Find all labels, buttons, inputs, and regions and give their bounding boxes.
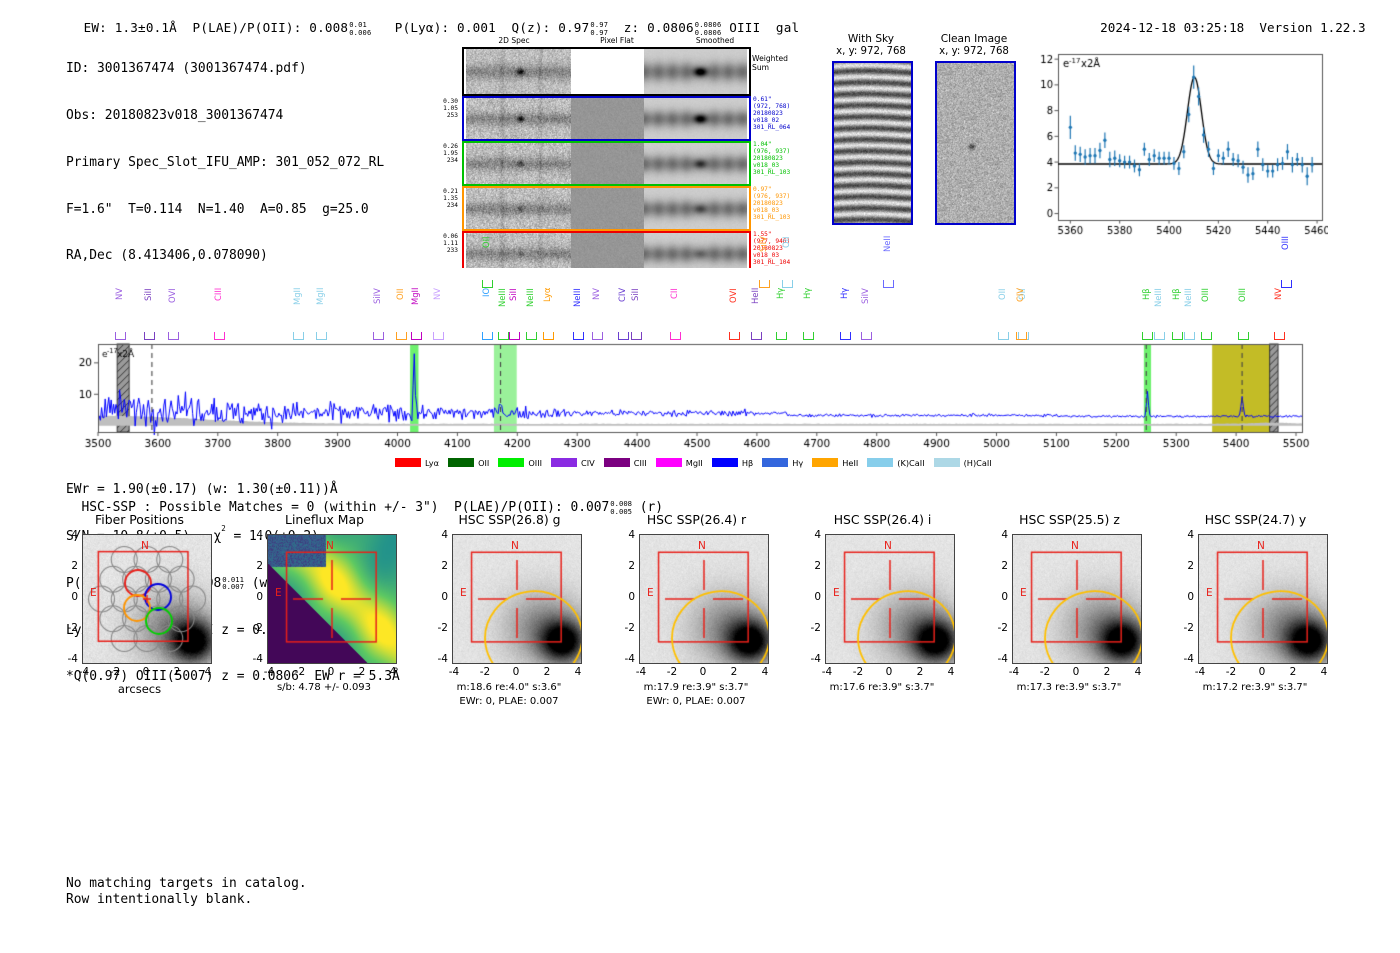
panel-ytick: 2: [797, 560, 821, 572]
legend-item: CIII: [604, 458, 647, 468]
legend-swatch: [656, 458, 682, 467]
panel-xtick: -2: [101, 666, 129, 678]
fiber-meta-1: (972, 768): [753, 103, 790, 110]
panel-xtick: 2: [1093, 666, 1121, 678]
emission-line-bracket: [433, 332, 444, 340]
panel-xlabel: arcsecs: [52, 682, 227, 696]
fiber-row-stats: 0.211.35234: [424, 188, 458, 209]
cutout-with-sky-title: With Sky: [820, 33, 922, 45]
panel-xtick: 0: [689, 666, 717, 678]
weighted-sum-2dspec-image: [466, 49, 571, 94]
emission-line-label: OII: [997, 288, 1007, 334]
fiber-meta-3: v018_02: [753, 117, 790, 124]
panel-title: Lineflux Map: [237, 512, 412, 527]
panel-xtick: 0: [132, 666, 160, 678]
fiber-row-image-group: [462, 96, 751, 141]
emission-line-bracket: [759, 280, 770, 288]
fiber-smoothed-image: [644, 188, 747, 229]
panel-title: HSC SSP(24.7) y: [1168, 512, 1343, 527]
header-plya: P(Lyα): 0.001: [395, 20, 496, 35]
emission-line-label: NV: [1273, 288, 1283, 334]
panel-xtick: 4: [194, 666, 222, 678]
legend-item: (K)CaII: [867, 458, 924, 468]
compass-east-label: E: [275, 587, 282, 599]
emission-line-label: Hγ: [775, 288, 785, 334]
emission-line-label: Hβ: [1171, 288, 1181, 334]
panel-xtick: 4: [1310, 666, 1338, 678]
panel-ytick: -2: [797, 622, 821, 634]
legend-label: CIII: [634, 458, 647, 468]
compass-east-label: E: [647, 587, 654, 599]
header-qz: Q(z): 0.97: [512, 20, 590, 35]
emission-line-label: NV: [591, 288, 601, 334]
emission-line-label: Lyα: [542, 288, 552, 334]
legend-item: OII: [448, 458, 489, 468]
emission-line-bracket: [1274, 332, 1285, 340]
legend-item: (H)CaII: [934, 458, 992, 468]
panel-ytick: -4: [1170, 653, 1194, 665]
emission-line-bracket: [115, 332, 126, 340]
spec2d-fiber-row: 0.211.352340.97"(976, 937)20180823v018_0…: [462, 186, 822, 229]
emission-line-label: CIV: [1015, 288, 1025, 334]
panel-xtick: -2: [658, 666, 686, 678]
panel-image[interactable]: [1012, 534, 1142, 664]
spec2d-fiber-row: 0.261.952341.04"(976, 937)20180823v018_0…: [462, 141, 822, 184]
panel-ytick: 4: [797, 529, 821, 541]
emission-line-bracket: [144, 332, 155, 340]
emission-line-label: SiIV: [860, 288, 870, 334]
emission-line-label: SiII: [143, 288, 153, 334]
panel-image[interactable]: [1198, 534, 1328, 664]
panel-ytick: 0: [1170, 591, 1194, 603]
emission-line-bracket: [1184, 332, 1195, 340]
fiber-meta-2: 20180823: [753, 110, 790, 117]
header-z: z: 0.0806: [624, 20, 694, 35]
legend-label: Hβ: [742, 458, 753, 468]
panel-xtick: -4: [255, 666, 283, 678]
emission-line-bracket: [293, 332, 304, 340]
fiber-stat-1: 1.95: [424, 150, 458, 157]
fiber-meta-3: v018_03: [753, 207, 790, 214]
fiber-stat-2: 234: [424, 202, 458, 209]
legend-item: Lyα: [395, 458, 439, 468]
panel-xtick: -4: [1000, 666, 1028, 678]
spec2d-col-header-smoothed: Smoothed: [670, 36, 760, 45]
header-timestamp-version: 2024-12-18 03:25:18 Version 1.22.3: [1085, 5, 1366, 35]
footer-line-1: No matching targets in catalog.: [66, 876, 307, 892]
header-datetime: 2024-12-18 03:25:18: [1100, 20, 1244, 35]
emission-line-bracket: [1172, 332, 1183, 340]
panel-ytick: -2: [1170, 622, 1194, 634]
emission-line-bracket: [168, 332, 179, 340]
fiber-meta-1: (976, 937): [753, 148, 790, 155]
image-panel: HSC SSP(26.4) i420-2-4-4-2024m:17.6 re:3…: [803, 512, 978, 727]
info-primary-spec: Primary Spec_Slot_IFU_AMP: 301_052_072_R…: [66, 155, 400, 171]
legend-swatch: [812, 458, 838, 467]
cutout-with-sky-image: [832, 61, 913, 225]
fiber-row-image-group: [462, 186, 751, 231]
emission-line-label: SiIV: [372, 288, 382, 334]
emission-line-label: OII: [781, 236, 791, 282]
panel-ytick: 4: [984, 529, 1008, 541]
panel-xtick: 2: [720, 666, 748, 678]
fiber-meta-4: 301_RL_103: [753, 214, 790, 221]
emission-line-bracket: [883, 280, 894, 288]
emission-line-label: SiIV: [758, 236, 768, 282]
cutout-clean-image-canvas: [935, 61, 1016, 225]
emission-line-bracket: [751, 332, 762, 340]
emission-line-bracket: [214, 332, 225, 340]
panel-xtick: 2: [906, 666, 934, 678]
emission-line-bracket: [803, 332, 814, 340]
spec2d-col-header-pixelflat: Pixel Flat: [572, 36, 662, 45]
image-panel-row: Fiber Positions420-2-4-4-2024arcsecsNELi…: [0, 512, 1400, 727]
compass-north-label: N: [884, 540, 892, 552]
panel-caption-2: EWr: 0, PLAE: 0.007: [420, 696, 598, 707]
fiber-meta-2: 20180823: [753, 200, 790, 207]
panel-ytick: 2: [239, 560, 263, 572]
panel-ytick: 2: [424, 560, 448, 572]
fiber-row-meta: 0.61"(972, 768)20180823v018_02301_RL_064: [753, 96, 790, 131]
panel-ytick: 4: [424, 529, 448, 541]
emission-line-label: CIV: [617, 288, 627, 334]
emission-line-label: NeIII: [525, 288, 535, 334]
emission-line-label: OII: [395, 288, 405, 334]
fiber-stat-1: 1.05: [424, 105, 458, 112]
header-z-range: 0.08060.0806: [695, 21, 722, 35]
panel-image[interactable]: [452, 534, 582, 664]
spec2d-weighted-sum-row: [462, 47, 751, 96]
panel-ytick: -4: [54, 653, 78, 665]
emission-line-bracket: [411, 332, 422, 340]
full-spectrum-panel: NVSiIIOVICIIIMgIIMgIISiIVOIIMgIINVIONeII…: [0, 268, 1400, 468]
info-obs: Obs: 20180823v018_3001367474: [66, 108, 400, 124]
panel-caption-1: m:17.6 re:3.9" s:3.7": [793, 682, 971, 693]
emission-line-label: OIII: [1280, 236, 1290, 282]
legend-item: MgII: [656, 458, 703, 468]
compass-east-label: E: [1206, 587, 1213, 599]
emission-line-label: OIII: [1237, 288, 1247, 334]
fiber-stat-0: 0.06: [424, 233, 458, 240]
panel-ytick: 2: [1170, 560, 1194, 572]
fiber-row-meta: 1.04"(976, 937)20180823v018_03301_RL_103: [753, 141, 790, 176]
emission-line-label: MgII: [410, 288, 420, 334]
panel-ytick: -4: [424, 653, 448, 665]
panel-xtick: 4: [564, 666, 592, 678]
image-panel: Fiber Positions420-2-4-4-2024arcsecsNE: [60, 512, 235, 727]
emission-line-bracket: [670, 332, 681, 340]
panel-ytick: -2: [54, 622, 78, 634]
panel-image[interactable]: [639, 534, 769, 664]
emission-line-label: MgII: [315, 288, 325, 334]
fiber-smoothed-image: [644, 98, 747, 139]
info-id: ID: 3001367474 (3001367474.pdf): [66, 61, 400, 77]
emission-line-bracket: [396, 332, 407, 340]
emission-line-bracket: [776, 332, 787, 340]
legend-label: (H)CaII: [964, 458, 992, 468]
image-panel: HSC SSP(24.7) y420-2-4-4-2024m:17.2 re:3…: [1176, 512, 1351, 727]
panel-title: HSC SSP(26.4) i: [795, 512, 970, 527]
legend-swatch: [498, 458, 524, 467]
legend-item: Hγ: [762, 458, 803, 468]
panel-xtick: 0: [1248, 666, 1276, 678]
emission-line-label: CIII: [213, 288, 223, 334]
panel-ytick: -2: [611, 622, 635, 634]
panel-xtick: -2: [844, 666, 872, 678]
emission-line-label: MgII: [292, 288, 302, 334]
fiber-2dspec-image: [466, 143, 571, 184]
fiber-2dspec-image: [466, 188, 571, 229]
info-radec: RA,Dec (8.413406,0.078090): [66, 248, 400, 264]
panel-xtick: -4: [1186, 666, 1214, 678]
emission-line-bracket: [1281, 280, 1292, 288]
compass-east-label: E: [460, 587, 467, 599]
panel-xtick: 4: [751, 666, 779, 678]
legend-label: Lyα: [425, 458, 439, 468]
panel-image[interactable]: [267, 534, 397, 664]
panel-xtick: 0: [317, 666, 345, 678]
panel-ytick: -4: [984, 653, 1008, 665]
weighted-sum-smoothed-image: [644, 49, 747, 94]
legend-label: CIV: [581, 458, 595, 468]
compass-north-label: N: [511, 540, 519, 552]
image-panel: HSC SSP(25.5) z420-2-4-4-2024m:17.3 re:3…: [990, 512, 1165, 727]
emission-line-label: OVI: [728, 288, 738, 334]
fiber-stat-2: 253: [424, 112, 458, 119]
fiber-stat-2: 233: [424, 247, 458, 254]
panel-xtick: -2: [471, 666, 499, 678]
compass-east-label: E: [1020, 587, 1027, 599]
legend-item: CIV: [551, 458, 595, 468]
panel-xtick: 2: [1279, 666, 1307, 678]
emission-line-label: SiII: [508, 288, 518, 334]
legend-label: OIII: [528, 458, 542, 468]
panel-ytick: -4: [611, 653, 635, 665]
emission-line-bracket: [526, 332, 537, 340]
panel-xtick: -2: [286, 666, 314, 678]
header-qz-range: 0.970.97: [590, 21, 608, 35]
emission-line-bracket: [1154, 332, 1165, 340]
fiber-row-stats: 0.261.95234: [424, 143, 458, 164]
emission-line-label: NV: [114, 288, 124, 334]
emission-line-label: OII: [481, 236, 491, 282]
footer-line-2: Row intentionally blank.: [66, 892, 307, 908]
legend-label: Hγ: [792, 458, 803, 468]
fiber-row-stats: 0.061.11233: [424, 233, 458, 254]
panel-ytick: -2: [984, 622, 1008, 634]
panel-caption-1: m:17.2 re:3.9" s:3.7": [1166, 682, 1344, 693]
emission-line-bracket: [482, 280, 493, 288]
panel-ytick: 0: [611, 591, 635, 603]
fiber-meta-3: v018_03: [753, 162, 790, 169]
fiber-2dspec-image: [466, 98, 571, 139]
panel-ytick: 4: [611, 529, 635, 541]
panel-ytick: -2: [239, 622, 263, 634]
emission-line-bracket: [998, 332, 1009, 340]
emission-line-label: Hγ: [802, 288, 812, 334]
emission-line-bracket: [543, 332, 554, 340]
panel-ytick: 2: [611, 560, 635, 572]
panel-ytick: 4: [54, 529, 78, 541]
emission-line-bracket: [373, 332, 384, 340]
panel-xtick: 2: [163, 666, 191, 678]
panel-xtick: 0: [1062, 666, 1090, 678]
emission-line-bracket: [1142, 332, 1153, 340]
emission-line-bracket: [782, 280, 793, 288]
header-classification: OIII gal: [729, 20, 799, 35]
emission-line-labels: NVSiIIOVICIIIMgIIMgIISiIVOIIMgIINVIONeII…: [0, 268, 1400, 363]
image-panel: Lineflux Map420-2-4-4-2024s/b: 4.78 +/- …: [245, 512, 420, 727]
fiber-meta-0: 1.04": [753, 141, 790, 148]
emission-line-bracket: [482, 332, 493, 340]
panel-xtick: 0: [502, 666, 530, 678]
panel-ytick: 0: [984, 591, 1008, 603]
legend-label: HeII: [842, 458, 858, 468]
fiber-stat-1: 1.11: [424, 240, 458, 247]
legend-swatch: [551, 458, 577, 467]
panel-xtick: 4: [1124, 666, 1152, 678]
emission-line-label: NeII: [882, 236, 892, 282]
emission-line-bracket: [861, 332, 872, 340]
emission-line-bracket: [1238, 332, 1249, 340]
panel-caption-1: m:18.6 re:4.0" s:3.6": [420, 682, 598, 693]
fiber-smoothed-image: [644, 143, 747, 184]
cutout-with-sky-subtitle: x, y: 972, 768: [820, 46, 922, 57]
emission-line-label: NeIII: [1153, 288, 1163, 334]
fiber-stat-2: 234: [424, 157, 458, 164]
legend-swatch: [934, 458, 960, 467]
emission-line-label: HeII: [750, 288, 760, 334]
panel-ytick: 0: [239, 591, 263, 603]
header-version: Version 1.22.3: [1259, 20, 1365, 35]
legend-label: (K)CaII: [897, 458, 924, 468]
spectrum-legend: LyαOIIOIIICIVCIIIMgIIHβHγHeII(K)CaII(H)C…: [395, 452, 1001, 471]
emission-line-bracket: [840, 332, 851, 340]
spec2d-col-header-2dspec: 2D Spec: [469, 36, 559, 45]
fiber-stat-0: 0.30: [424, 98, 458, 105]
panel-caption-1: s/b: 4.78 +/- 0.093: [235, 682, 413, 693]
fiber-meta-1: (976, 937): [753, 193, 790, 200]
compass-north-label: N: [698, 540, 706, 552]
image-panel: HSC SSP(26.8) g420-2-4-4-2024m:18.6 re:4…: [430, 512, 605, 727]
emission-line-bracket: [1016, 332, 1027, 340]
panel-ytick: 0: [54, 591, 78, 603]
legend-swatch: [604, 458, 630, 467]
fiber-meta-4: 301_RL_064: [753, 124, 790, 131]
info-seeing-throughput: F=1.6" T=0.114 N=1.40 A=0.85 g=25.0: [66, 202, 400, 218]
line-fit-plot: [1028, 48, 1328, 250]
emission-line-label: SiII: [630, 288, 640, 334]
panel-title: HSC SSP(25.5) z: [982, 512, 1157, 527]
panel-title: Fiber Positions: [52, 512, 227, 527]
compass-north-label: N: [326, 540, 334, 552]
footer-note: No matching targets in catalog. Row inte…: [66, 876, 307, 908]
hsc-ssp-summary-line: HSC-SSP : Possible Matches = 0 (within +…: [66, 485, 663, 515]
emission-line-label: OIII: [1200, 288, 1210, 334]
spec2d-fiber-row: 0.301.052530.61"(972, 768)20180823v018_0…: [462, 96, 822, 139]
panel-xtick: 2: [533, 666, 561, 678]
panel-ytick: 2: [54, 560, 78, 572]
fiber-stat-0: 0.21: [424, 188, 458, 195]
line-fit-canvas: [1028, 48, 1328, 246]
emission-line-bracket: [316, 332, 327, 340]
panel-image[interactable]: [82, 534, 212, 664]
emission-line-bracket: [509, 332, 520, 340]
panel-xtick: -4: [813, 666, 841, 678]
panel-xtick: -2: [1217, 666, 1245, 678]
legend-swatch: [762, 458, 788, 467]
panel-ytick: 4: [239, 529, 263, 541]
legend-swatch: [867, 458, 893, 467]
emission-line-label: IO: [481, 288, 491, 334]
panel-ytick: -2: [424, 622, 448, 634]
panel-ytick: -4: [239, 653, 263, 665]
cutout-clean-title: Clean Image: [920, 33, 1028, 45]
fiber-stat-1: 1.35: [424, 195, 458, 202]
panel-caption-1: m:17.9 re:3.9" s:3.7": [607, 682, 785, 693]
fiber-meta-0: 0.97": [753, 186, 790, 193]
panel-xtick: 0: [875, 666, 903, 678]
legend-item: OIII: [498, 458, 542, 468]
image-panel: HSC SSP(26.4) r420-2-4-4-2024m:17.9 re:3…: [617, 512, 792, 727]
compass-north-label: N: [1071, 540, 1079, 552]
fiber-row-stats: 0.301.05253: [424, 98, 458, 119]
panel-caption-1: m:17.3 re:3.9" s:3.7": [980, 682, 1158, 693]
compass-east-label: E: [833, 587, 840, 599]
legend-item: HeII: [812, 458, 858, 468]
fiber-meta-4: 301_RL_103: [753, 169, 790, 176]
emission-line-bracket: [631, 332, 642, 340]
panel-xtick: 4: [379, 666, 407, 678]
legend-label: OII: [478, 458, 489, 468]
legend-swatch: [448, 458, 474, 467]
emission-line-bracket: [729, 332, 740, 340]
panel-xtick: -2: [1031, 666, 1059, 678]
panel-xtick: -4: [440, 666, 468, 678]
legend-label: MgII: [686, 458, 703, 468]
panel-caption-2: EWr: 0, PLAE: 0.007: [607, 696, 785, 707]
cutout-clean-subtitle: x, y: 972, 768: [920, 46, 1028, 57]
fiber-row-image-group: [462, 141, 751, 186]
panel-ytick: 0: [424, 591, 448, 603]
panel-ytick: -4: [797, 653, 821, 665]
panel-title: HSC SSP(26.8) g: [422, 512, 597, 527]
emission-line-bracket: [1201, 332, 1212, 340]
panel-ytick: 4: [1170, 529, 1194, 541]
emission-line-label: NeIII: [1183, 288, 1193, 334]
panel-ytick: 0: [797, 591, 821, 603]
emission-line-label: OVI: [167, 288, 177, 334]
emission-line-label: NeIII: [497, 288, 507, 334]
panel-ytick: 2: [984, 560, 1008, 572]
fiber-meta-0: 0.61": [753, 96, 790, 103]
emission-line-label: Hγ: [839, 288, 849, 334]
emission-line-label: NV: [432, 288, 442, 334]
fiber-row-meta: 0.97"(976, 937)20180823v018_03301_RL_103: [753, 186, 790, 221]
emission-line-bracket: [618, 332, 629, 340]
fiber-meta-2: 20180823: [753, 155, 790, 162]
legend-swatch: [712, 458, 738, 467]
compass-north-label: N: [141, 540, 149, 552]
panel-image[interactable]: [825, 534, 955, 664]
weighted-sum-label: WeightedSum: [752, 54, 788, 72]
emission-line-label: CII: [669, 288, 679, 334]
panel-xtick: -4: [627, 666, 655, 678]
compass-north-label: N: [1257, 540, 1265, 552]
emission-line-label: Hβ: [1141, 288, 1151, 334]
legend-item: Hβ: [712, 458, 753, 468]
emission-line-bracket: [573, 332, 584, 340]
